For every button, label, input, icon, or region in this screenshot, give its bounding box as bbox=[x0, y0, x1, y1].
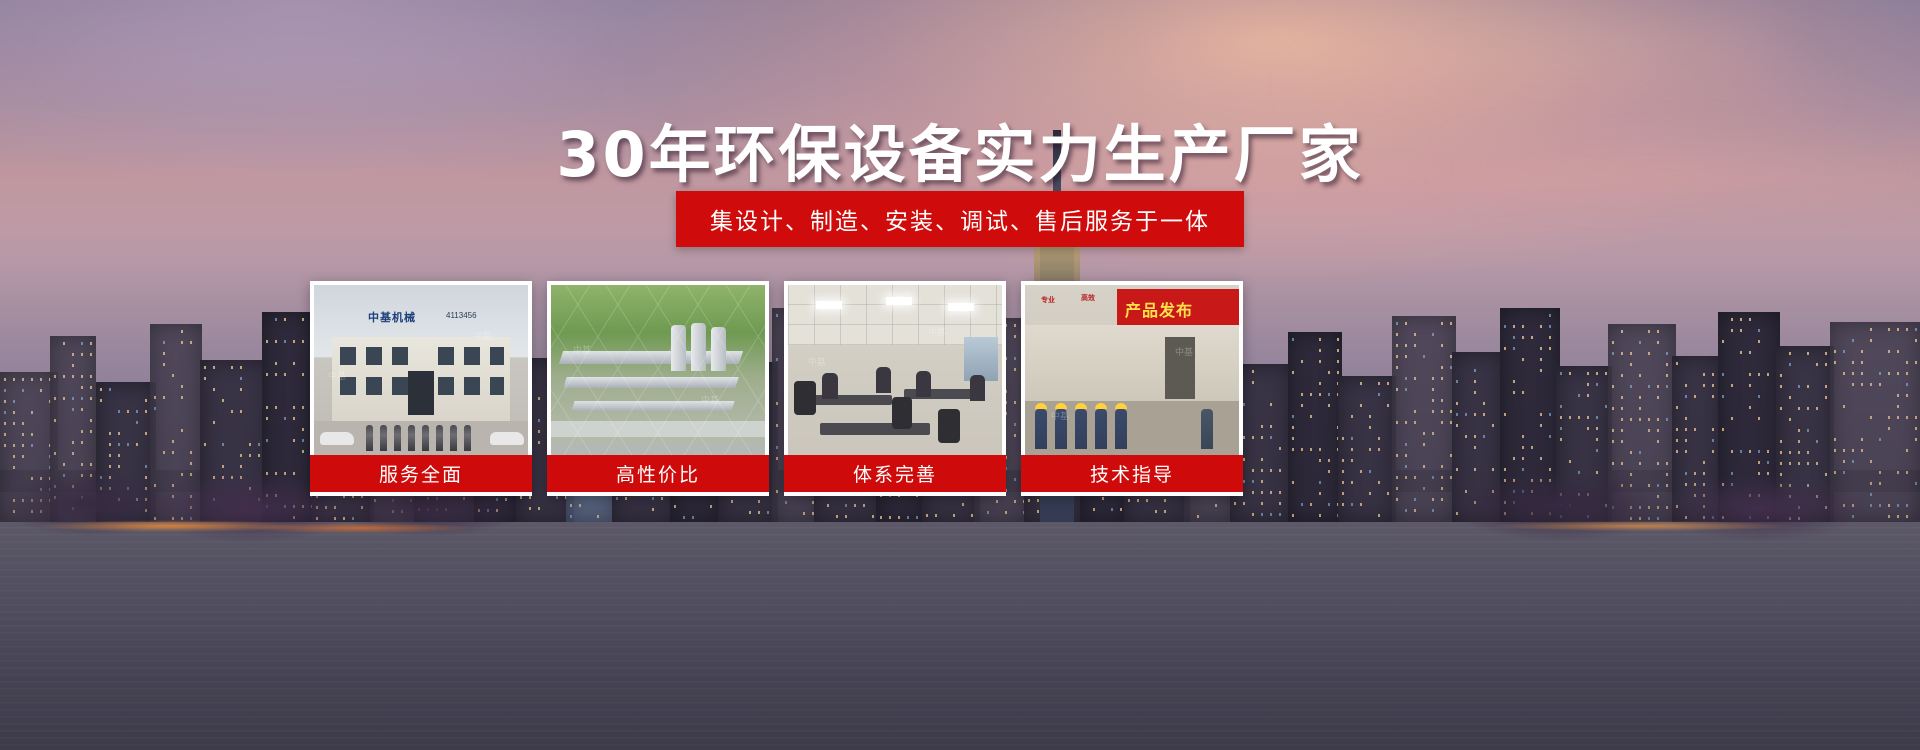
office-chair bbox=[892, 397, 912, 429]
ceiling-lamp bbox=[816, 301, 842, 309]
facade-window bbox=[340, 347, 356, 365]
wall-text-left-2: 高效 bbox=[1081, 293, 1095, 303]
facade-window bbox=[392, 377, 408, 395]
watermark: 中基 bbox=[573, 343, 591, 356]
parked-car bbox=[320, 432, 354, 445]
office-worker bbox=[876, 367, 891, 393]
feature-card-label: 体系完善 bbox=[784, 455, 1006, 492]
wall-text-left-1: 专业 bbox=[1041, 295, 1055, 305]
workshop-red-banner: 产品发布 bbox=[1117, 289, 1239, 329]
worker bbox=[1035, 409, 1047, 449]
office-desk bbox=[806, 395, 892, 405]
facade-window bbox=[438, 347, 454, 365]
card-photo-workshop: 产品发布 专业 高效 中基 中基 bbox=[1025, 285, 1239, 455]
watermark: 中基 bbox=[474, 329, 492, 342]
facade-window bbox=[490, 377, 504, 395]
card-photo-aerial-plant: 中基 中基 bbox=[551, 285, 765, 455]
staff-person bbox=[394, 425, 401, 451]
feature-card-label: 技术指导 bbox=[1021, 455, 1243, 492]
hard-hat-icon bbox=[1075, 403, 1087, 409]
staff-person bbox=[464, 425, 471, 451]
office-chair bbox=[938, 409, 960, 443]
feature-card[interactable]: 中基 中基 体系完善 bbox=[784, 281, 1006, 496]
worker bbox=[1115, 409, 1127, 449]
hard-hat-icon bbox=[1095, 403, 1107, 409]
staff-person bbox=[436, 425, 443, 451]
facade-window bbox=[490, 347, 504, 365]
card-photo-office-interior: 中基 中基 bbox=[788, 285, 1002, 455]
feature-card[interactable]: 产品发布 专业 高效 中基 中基 技术指 bbox=[1021, 281, 1243, 496]
facade-window bbox=[366, 377, 382, 395]
facade-window bbox=[392, 347, 408, 365]
feature-card-label: 高性价比 bbox=[547, 455, 769, 492]
facade-window bbox=[438, 377, 454, 395]
feature-card[interactable]: 中基 中基 高性价比 bbox=[547, 281, 769, 496]
office-worker bbox=[970, 375, 985, 401]
card-photo-office-building: 中基机械 4113456 bbox=[314, 285, 528, 455]
office-desk bbox=[820, 423, 930, 435]
staff-person bbox=[422, 425, 429, 451]
hard-hat-icon bbox=[1115, 403, 1127, 409]
staff-person bbox=[380, 425, 387, 451]
building-entrance bbox=[408, 371, 434, 415]
watermark: 中基 bbox=[328, 369, 346, 382]
watermark: 中基 bbox=[1051, 409, 1069, 422]
staff-person bbox=[450, 425, 457, 451]
workshop-banner-text: 产品发布 bbox=[1125, 297, 1193, 321]
hard-hat-icon bbox=[1035, 403, 1047, 409]
staff-person bbox=[408, 425, 415, 451]
office-chair bbox=[794, 381, 816, 415]
watermark: 中基 bbox=[928, 325, 946, 338]
banner-subtitle-bar: 集设计、制造、安装、调试、售后服务于一体 bbox=[676, 191, 1244, 247]
worker bbox=[1075, 409, 1087, 449]
office-worker bbox=[916, 371, 931, 397]
feature-card-list: 中基机械 4113456 bbox=[310, 281, 1260, 496]
watermark: 中基 bbox=[701, 393, 719, 406]
office-ceiling bbox=[788, 285, 1002, 345]
workshop-wall bbox=[1025, 325, 1239, 403]
feature-card-label: 服务全面 bbox=[310, 455, 532, 492]
ceiling-lamp bbox=[886, 297, 912, 305]
facade-window bbox=[366, 347, 382, 365]
ceiling-lamp bbox=[948, 303, 974, 311]
watermark: 中基 bbox=[1175, 345, 1193, 358]
worker bbox=[1095, 409, 1107, 449]
network-overlay bbox=[551, 285, 765, 455]
worker-instructor bbox=[1201, 409, 1213, 449]
hero-banner: 30年环保设备实力生产厂家 集设计、制造、安装、调试、售后服务于一体 中基机械 … bbox=[0, 0, 1920, 750]
building-phone-text: 4113456 bbox=[446, 311, 477, 320]
staff-person bbox=[366, 425, 373, 451]
facade-window bbox=[464, 347, 480, 365]
facade-window bbox=[464, 377, 480, 395]
building-sign-text: 中基机械 bbox=[368, 309, 416, 325]
parked-car bbox=[490, 432, 524, 445]
banner-headline: 30年环保设备实力生产厂家 bbox=[0, 104, 1920, 194]
office-worker bbox=[822, 373, 838, 399]
feature-card[interactable]: 中基机械 4113456 bbox=[310, 281, 532, 496]
watermark: 中基 bbox=[808, 355, 826, 368]
